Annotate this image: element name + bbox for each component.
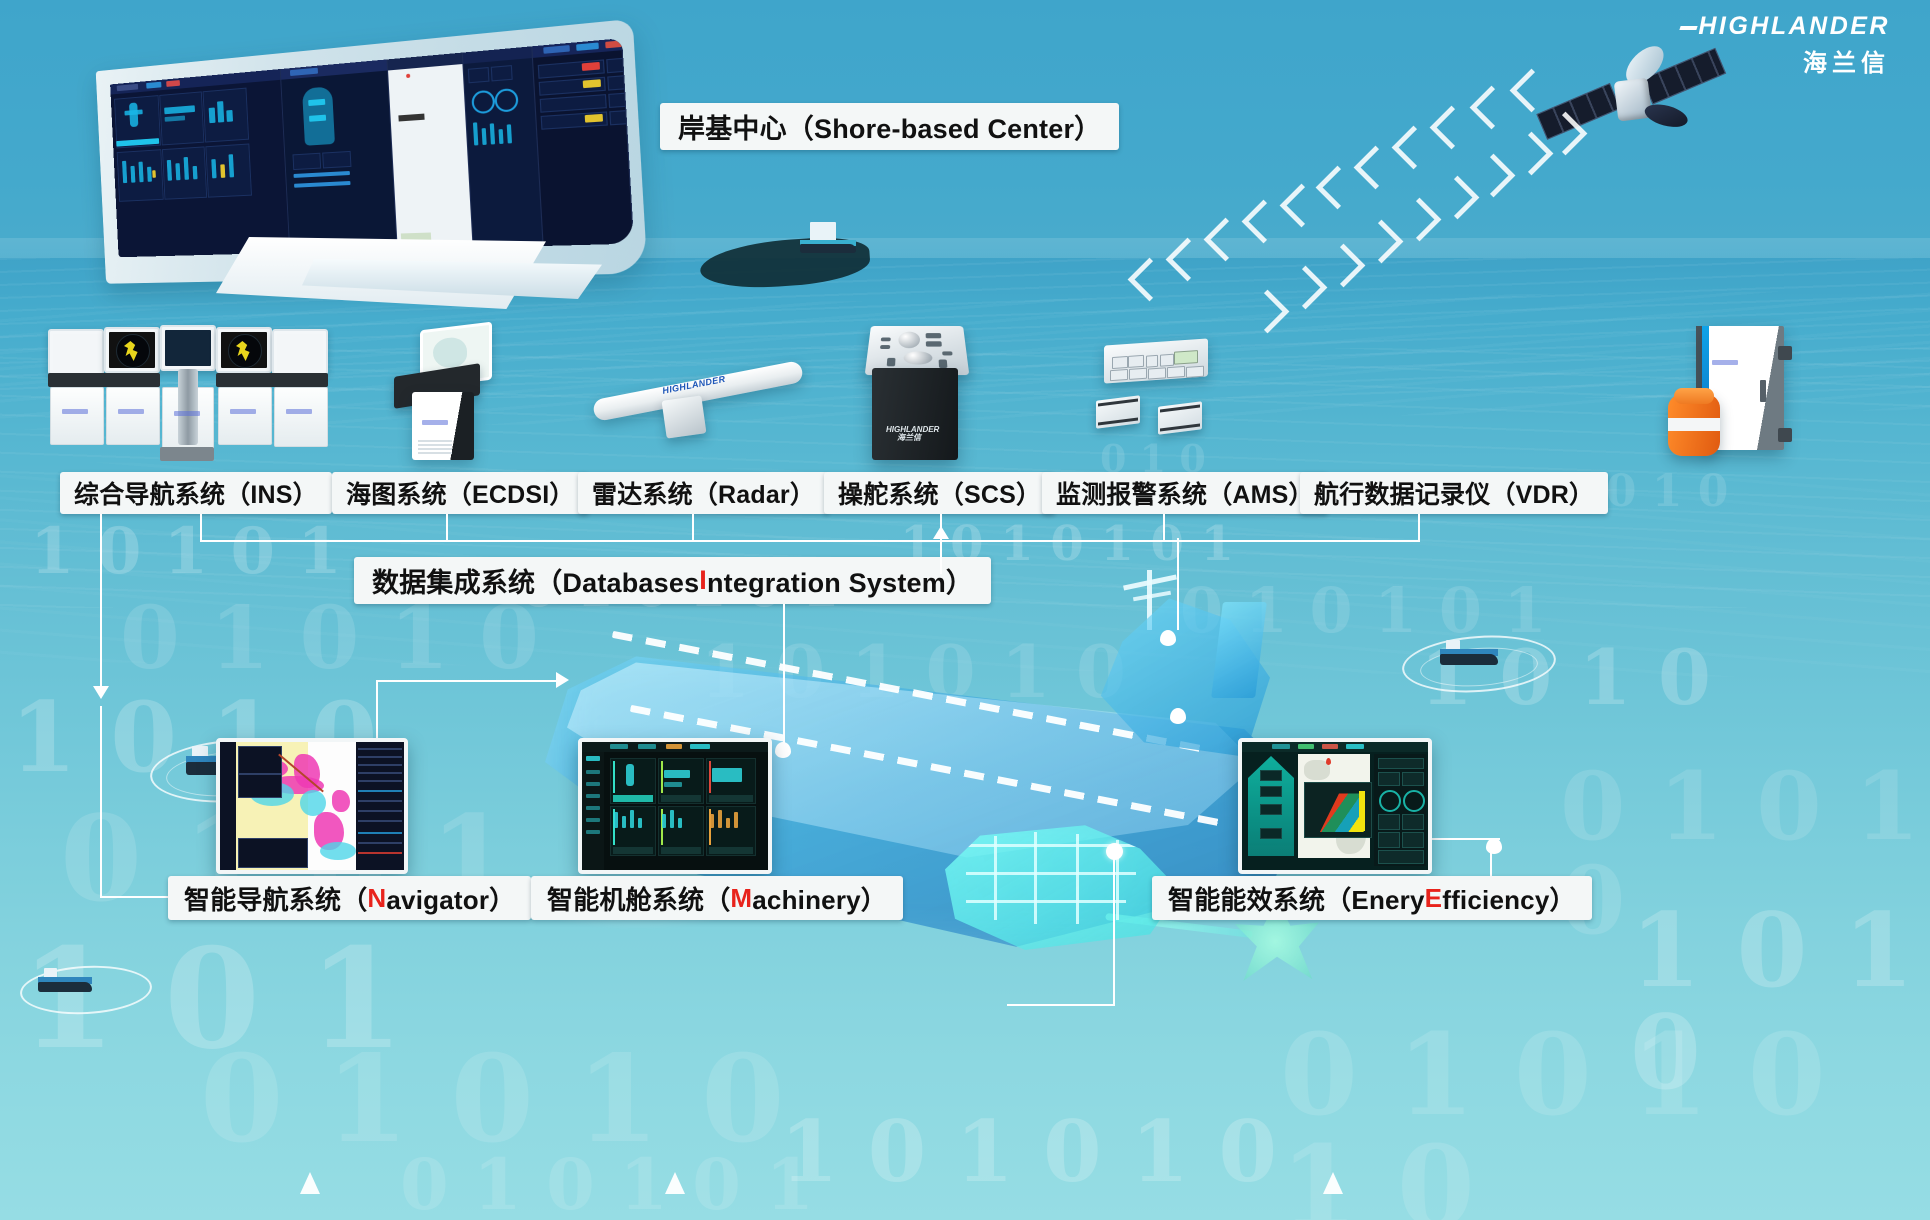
- ship-node-deck: [775, 742, 791, 758]
- radar-pedestal: [662, 395, 707, 438]
- system-label-navigator: 智能导航系统（Navigator）: [168, 876, 531, 920]
- wall-panel-fleet-overview: [110, 69, 290, 257]
- steering-console-icon: HIGHLANDER海兰信: [862, 318, 982, 468]
- harbour-vessel: [800, 222, 856, 254]
- alarm-io-module-2: [1158, 401, 1202, 434]
- machinery-prefix: 智能机舱系统（: [547, 880, 730, 917]
- equipment-label-ins: 综合导航系统（INS）: [60, 472, 332, 514]
- small-boat-right: [1440, 640, 1498, 670]
- steering-brand-text: HIGHLANDER海兰信: [886, 426, 932, 442]
- node-stem-engine: [1113, 852, 1115, 1004]
- alarm-main-unit: [1104, 338, 1208, 383]
- ship-mast-arm-2: [1133, 591, 1171, 602]
- system-label-efficiency: 智能能效系统（Enery Efficiency）: [1152, 876, 1592, 920]
- vdr-capsule-cap: [1674, 388, 1714, 404]
- machinery-red-letter: M: [730, 883, 752, 914]
- vdr-door-handle: [1760, 380, 1766, 402]
- equipment-label-radar: 雷达系统（Radar）: [578, 472, 829, 514]
- efficiency-suffix: fficiency）: [1442, 880, 1576, 917]
- bottom-marker-3: [1323, 1172, 1343, 1194]
- node-stem-deck: [783, 604, 785, 744]
- radar-antenna-icon: HIGHLANDER: [592, 352, 812, 452]
- wall-panel-gauges: [463, 46, 543, 248]
- efficiency-prefix: 智能能效系统（Enery: [1168, 880, 1425, 917]
- small-boat-bottom: [38, 968, 92, 996]
- steering-console-body: [872, 368, 958, 460]
- vdr-hinge-bottom: [1778, 428, 1792, 442]
- bottom-marker-1: [300, 1172, 320, 1194]
- dis-link-left: [376, 680, 556, 682]
- wall-panel-ship-status: [280, 59, 397, 252]
- machinery-suffix: achinery）: [752, 880, 887, 917]
- ship-node-stern: [1486, 838, 1502, 854]
- ship-node-antenna: [1160, 630, 1176, 646]
- efficiency-gauges-panel: [1374, 754, 1426, 866]
- alarm-io-module-1: [1096, 395, 1140, 428]
- logo-dash-icon: [1680, 26, 1698, 30]
- control-room-video-wall: [66, 47, 626, 279]
- equipment-label-ecdis: 海图系统（ECDSI）: [332, 472, 589, 514]
- efficiency-heatmap-popup: [1304, 782, 1372, 838]
- node-stem-antenna: [1177, 538, 1179, 630]
- system-label-machinery: 智能机舱系统（Machinery）: [531, 876, 903, 920]
- chart-kiosk-icon: [390, 322, 500, 467]
- satellite-module: [1642, 100, 1690, 131]
- vdr-hinge-top: [1778, 346, 1792, 360]
- equipment-label-vdr: 航行数据记录仪（VDR）: [1300, 472, 1608, 514]
- wall-panel-chart-view: [387, 53, 474, 250]
- wall-panel-alarm-table: [532, 38, 634, 246]
- ecdis-chart-screen: [216, 738, 408, 874]
- kiosk-vent: [418, 440, 452, 454]
- satellite-icon: [1523, 28, 1736, 171]
- node-link-engine: [1007, 1004, 1115, 1006]
- infographic-canvas: 1 0 1 0 1 0 1 0 1 0 1 0 1 0 0 1 0 1 1 0 …: [0, 0, 1930, 1220]
- voyage-recorder-icon: [1650, 318, 1820, 468]
- ship-node-bridge: [1170, 708, 1186, 724]
- vdr-capsule-band: [1668, 418, 1720, 431]
- navigator-suffix: avigator）: [386, 880, 515, 917]
- shore-center-label: 岸基中心（Shore-based Center）: [660, 103, 1119, 150]
- navigator-red-letter: N: [367, 883, 386, 914]
- energy-efficiency-screen: [1238, 738, 1432, 874]
- alarm-monitor-icon: [1092, 342, 1272, 462]
- efficiency-red-letter: E: [1425, 883, 1443, 914]
- bottom-marker-2: [665, 1172, 685, 1194]
- equipment-label-ams: 监测报警系统（AMS）: [1042, 472, 1328, 514]
- machinery-dashboard-screen: [578, 738, 772, 874]
- navigator-prefix: 智能导航系统（: [184, 880, 367, 917]
- equipment-label-scs: 操舵系统（SCS）: [824, 472, 1055, 514]
- brand-name-en: HIGHLANDER: [1698, 12, 1890, 40]
- navigation-console-icon: [40, 325, 330, 455]
